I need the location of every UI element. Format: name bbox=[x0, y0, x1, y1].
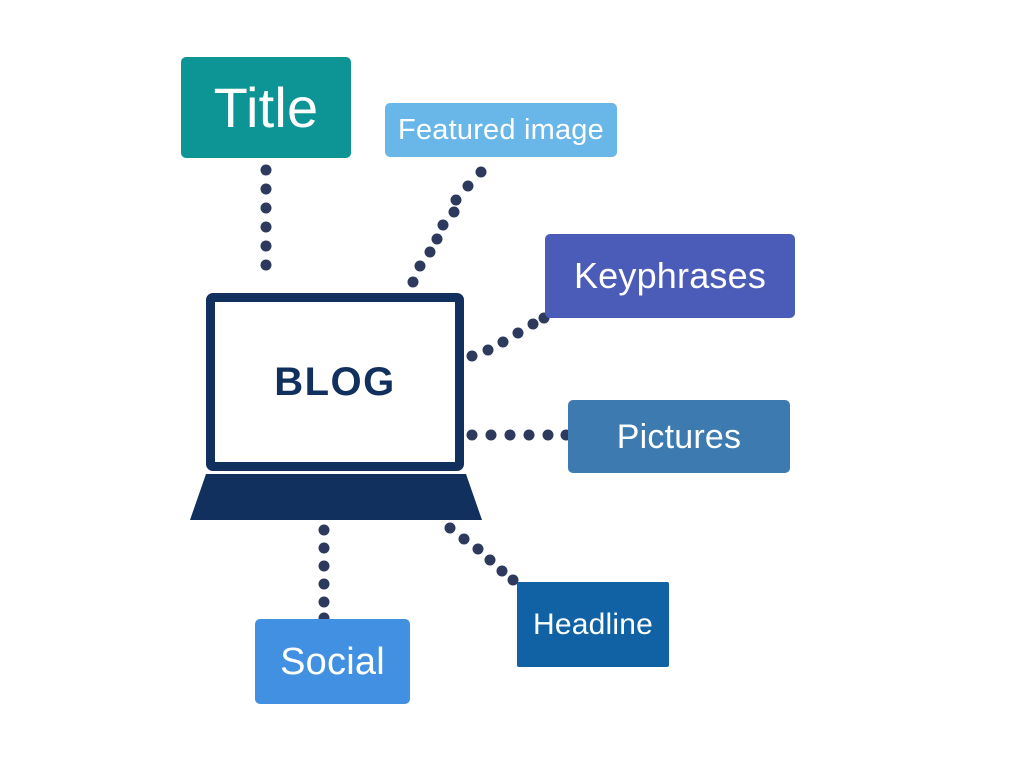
connector-featured-image bbox=[408, 167, 487, 288]
node-featured-image-label: Featured image bbox=[398, 116, 604, 145]
connector-social bbox=[319, 525, 330, 624]
node-featured-image[interactable]: Featured image bbox=[385, 103, 617, 157]
diagram-canvas: BLOG Title Featured image Keyphrases Pic… bbox=[0, 0, 1024, 768]
connector-pictures bbox=[467, 430, 572, 441]
node-pictures[interactable]: Pictures bbox=[568, 400, 790, 473]
node-social-label: Social bbox=[280, 643, 385, 681]
node-title-label: Title bbox=[214, 80, 319, 136]
node-title[interactable]: Title bbox=[181, 57, 351, 158]
center-label: BLOG bbox=[274, 362, 396, 402]
connector-title bbox=[261, 165, 272, 271]
node-headline-label: Headline bbox=[533, 610, 653, 640]
laptop-screen: BLOG bbox=[206, 293, 464, 471]
laptop-icon: BLOG bbox=[190, 288, 482, 524]
connector-headline bbox=[445, 523, 519, 586]
node-social[interactable]: Social bbox=[255, 619, 410, 704]
node-keyphrases-label: Keyphrases bbox=[574, 258, 766, 294]
node-keyphrases[interactable]: Keyphrases bbox=[545, 234, 795, 318]
node-pictures-label: Pictures bbox=[617, 420, 741, 454]
node-headline[interactable]: Headline bbox=[517, 582, 669, 667]
laptop-base bbox=[190, 474, 482, 520]
